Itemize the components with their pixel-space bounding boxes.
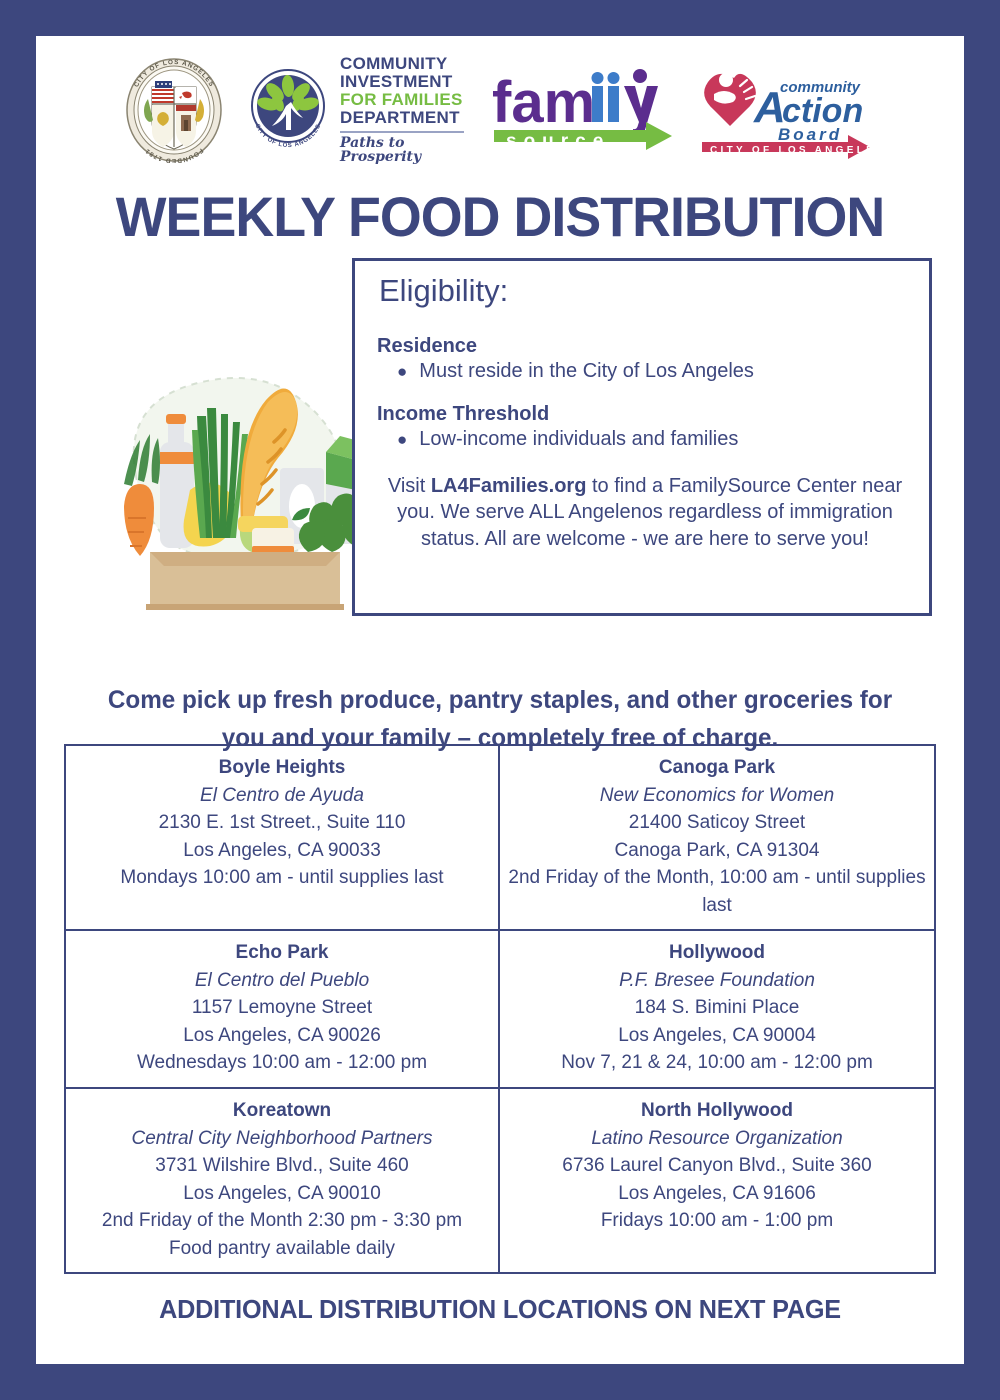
eligibility-bullet-residence: ● Must reside in the City of Los Angeles [397,360,913,383]
location-address: 6736 Laurel Canyon Blvd., Suite 360 [506,1152,928,1180]
location-city: Los Angeles, CA 90033 [72,837,492,865]
location-org: Central City Neighborhood Partners [72,1125,492,1153]
location-hours: Nov 7, 21 & 24, 10:00 am - 12:00 pm [506,1049,928,1077]
cifd-divider [340,131,464,133]
footer-note: ADDITIONAL DISTRIBUTION LOCATIONS ON NEX… [50,1294,950,1325]
city-of-los-angeles-seal-icon: CITY OF LOS ANGELES FOUNDED 1781 [124,57,224,163]
location-org: El Centro de Ayuda [72,782,492,810]
location-org: P.F. Bresee Foundation [506,967,928,995]
location-cell-boyle-heights: Boyle Heights El Centro de Ayuda 2130 E.… [66,746,500,931]
location-hours: 2nd Friday of the Month, 10:00 am - unti… [506,864,928,919]
location-name: Canoga Park [506,754,928,782]
location-cell-koreatown: Koreatown Central City Neighborhood Part… [66,1089,500,1272]
location-hours: Mondays 10:00 am - until supplies last [72,864,492,892]
community-investment-for-families-department-logo: CITY OF LOS ANGELES COMMUNITY INVESTMENT… [242,58,470,163]
location-city: Canoga Park, CA 91304 [506,837,928,865]
flyer-page: CITY OF LOS ANGELES FOUNDED 1781 [36,36,964,1364]
cifd-line-1: COMMUNITY [340,55,470,73]
location-city: Los Angeles, CA 91606 [506,1180,928,1208]
eligibility-title: Eligibility: [379,273,508,309]
eligibility-heading-residence: Residence [377,335,913,358]
eligibility-bullet-income-text: Low-income individuals and families [419,428,738,451]
la4families-link[interactable]: LA4Families.org [431,475,587,497]
bullet-icon: ● [397,363,407,380]
location-org: Latino Resource Organization [506,1125,928,1153]
location-city: Los Angeles, CA 90026 [72,1022,492,1050]
location-cell-canoga-park: Canoga Park New Economics for Women 2140… [500,746,934,931]
location-hours: 2nd Friday of the Month 2:30 pm - 3:30 p… [72,1207,492,1235]
location-org: New Economics for Women [506,782,928,810]
location-name: Hollywood [506,939,928,967]
page-title: WEEKLY FOOD DISTRIBUTION [55,184,946,249]
location-cell-north-hollywood: North Hollywood Latino Resource Organiza… [500,1089,934,1272]
svg-text:CITY OF LOS ANGELES: CITY OF LOS ANGELES [710,145,876,156]
location-name: Boyle Heights [72,754,492,782]
svg-text:source: source [506,131,610,152]
location-address: 3731 Wilshire Blvd., Suite 460 [72,1152,492,1180]
bullet-icon: ● [397,431,407,448]
eligibility-heading-income: Income Threshold [377,403,913,426]
logo-strip: CITY OF LOS ANGELES FOUNDED 1781 [36,50,964,170]
cifd-tree-icon: CITY OF LOS ANGELES [242,62,334,158]
eligibility-note: Visit LA4Families.org to find a FamilySo… [377,473,913,552]
eligibility-bullet-income: ● Low-income individuals and families [397,428,913,451]
location-address: 2130 E. 1st Street., Suite 110 [72,809,492,837]
spacer [377,383,913,403]
cifd-line-2: INVESTMENT [340,73,470,91]
svg-text:Board: Board [778,125,842,144]
location-address: 21400 Saticoy Street [506,809,928,837]
location-name: Koreatown [72,1097,492,1125]
location-org: El Centro del Pueblo [72,967,492,995]
location-cell-echo-park: Echo Park El Centro del Pueblo 1157 Lemo… [66,931,500,1089]
eligibility-box: Eligibility: Residence ● Must reside in … [352,258,932,616]
location-hours: Fridays 10:00 am - 1:00 pm [506,1207,928,1235]
location-address: 184 S. Bimini Place [506,994,928,1022]
eligibility-body: Residence ● Must reside in the City of L… [377,335,913,552]
location-city: Los Angeles, CA 90010 [72,1180,492,1208]
eligibility-bullet-residence-text: Must reside in the City of Los Angeles [419,360,754,383]
location-city: Los Angeles, CA 90004 [506,1022,928,1050]
location-hours: Wednesdays 10:00 am - 12:00 pm [72,1049,492,1077]
food-box-illustration-icon [94,356,384,618]
location-address: 1157 Lemoyne Street [72,994,492,1022]
community-action-board-logo: A community ction Board CITY OF LOS ANGE… [696,60,876,160]
familysource-logo: fam source [488,60,678,160]
eligibility-note-before: Visit [388,475,431,497]
locations-table: Boyle Heights El Centro de Ayuda 2130 E.… [64,744,936,1274]
cifd-wordmark: COMMUNITY INVESTMENT FOR FAMILIES DEPART… [340,55,470,165]
location-cell-hollywood: Hollywood P.F. Bresee Foundation 184 S. … [500,931,934,1089]
location-name: Echo Park [72,939,492,967]
cifd-line-4: DEPARTMENT [340,109,470,127]
cifd-tagline: Paths to Prosperity [340,136,470,165]
svg-text:fam: fam [492,70,595,135]
location-name: North Hollywood [506,1097,928,1125]
location-hours-extra: Food pantry available daily [72,1235,492,1263]
cifd-line-3: FOR FAMILIES [340,91,470,109]
